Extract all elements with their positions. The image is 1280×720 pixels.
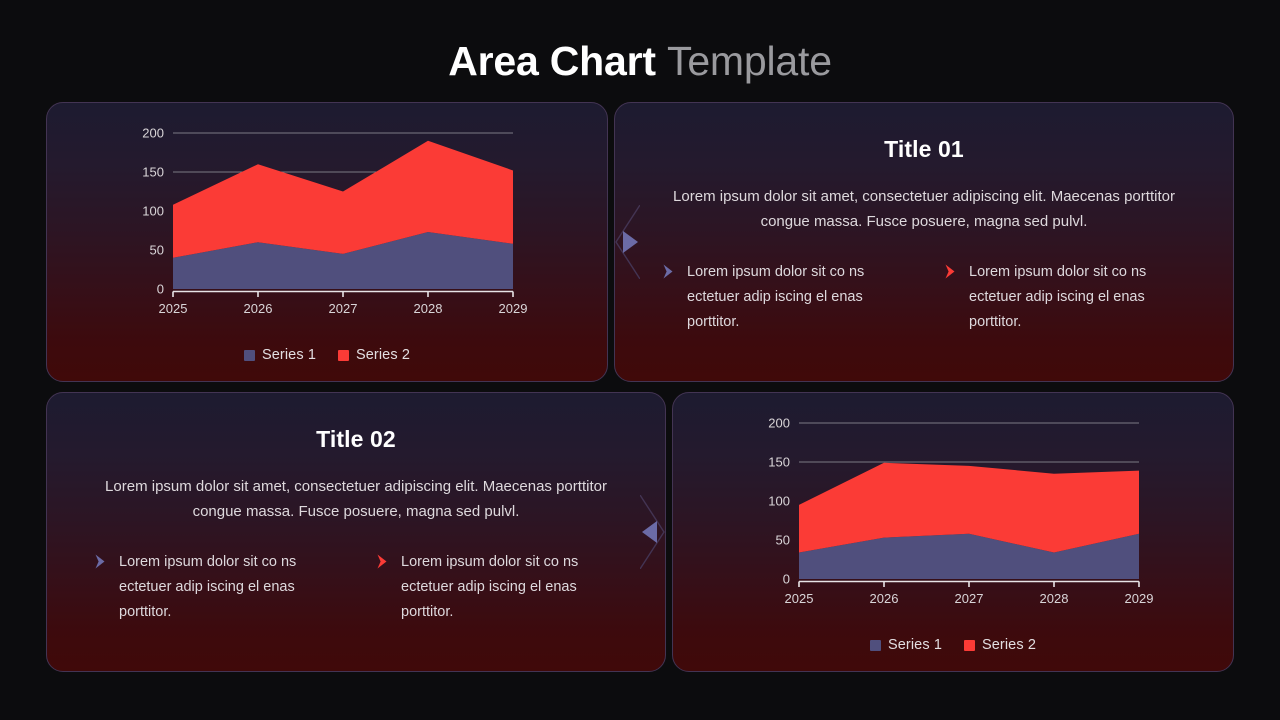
legend-label-series-1: Series 1 xyxy=(262,347,316,363)
list-item[interactable]: Lorem ipsum dolor sit co ns ectetuer adi… xyxy=(376,550,618,625)
legend-item-series-2[interactable]: Series 2 xyxy=(338,347,410,363)
list-item-label: Lorem ipsum dolor sit co ns ectetuer adi… xyxy=(119,550,336,625)
svg-text:150: 150 xyxy=(768,455,790,470)
svg-text:0: 0 xyxy=(157,282,164,297)
svg-text:150: 150 xyxy=(142,165,164,180)
svg-text:50: 50 xyxy=(776,533,790,548)
chevron-right-icon xyxy=(376,553,389,570)
area-chart-top-left: 05010015020020252026202720282029 xyxy=(127,123,527,323)
text-card-title-02: Title 02 Lorem ipsum dolor sit amet, con… xyxy=(46,392,666,672)
legend-label-series-1: Series 1 xyxy=(888,637,942,653)
svg-text:2028: 2028 xyxy=(414,301,443,316)
svg-text:2025: 2025 xyxy=(159,301,188,316)
panel-title: Title 01 xyxy=(884,136,964,163)
chart-legend-top-left: Series 1 Series 2 xyxy=(244,347,410,365)
list-item[interactable]: Lorem ipsum dolor sit co ns ectetuer adi… xyxy=(94,550,336,625)
panel-title: Title 02 xyxy=(316,426,396,453)
slide-canvas: Area Chart Template 05010015020020252026… xyxy=(0,0,1280,720)
svg-text:2026: 2026 xyxy=(244,301,273,316)
legend-item-series-1[interactable]: Series 1 xyxy=(244,347,316,363)
chart-card-bottom-right: 05010015020020252026202720282029 Series … xyxy=(672,392,1234,672)
chart-canvas-wrap-1: 05010015020020252026202720282029 xyxy=(699,413,1207,631)
svg-text:2029: 2029 xyxy=(499,301,527,316)
chart-card-top-left: 05010015020020252026202720282029 Series … xyxy=(46,102,608,382)
text-card-title-01: Title 01 Lorem ipsum dolor sit amet, con… xyxy=(614,102,1234,382)
list-item[interactable]: Lorem ipsum dolor sit co ns ectetuer adi… xyxy=(662,260,904,335)
chevron-right-icon xyxy=(94,553,107,570)
panel-body-text: Lorem ipsum dolor sit amet, consectetuer… xyxy=(101,474,611,524)
svg-text:100: 100 xyxy=(142,204,164,219)
svg-text:2025: 2025 xyxy=(785,591,814,606)
svg-text:2027: 2027 xyxy=(329,301,358,316)
legend-swatch-series-1 xyxy=(870,640,881,651)
svg-text:200: 200 xyxy=(768,416,790,431)
page-title-light: Template xyxy=(667,38,832,84)
svg-text:200: 200 xyxy=(142,126,164,141)
svg-text:100: 100 xyxy=(768,494,790,509)
svg-text:2026: 2026 xyxy=(870,591,899,606)
legend-swatch-series-1 xyxy=(244,350,255,361)
panel-bullet-list: Lorem ipsum dolor sit co ns ectetuer adi… xyxy=(655,260,1193,335)
panel-bullet-list: Lorem ipsum dolor sit co ns ectetuer adi… xyxy=(87,550,625,625)
chart-panel-top-left: 05010015020020252026202720282029 Series … xyxy=(47,103,607,381)
chevron-right-icon xyxy=(944,263,957,280)
svg-text:2027: 2027 xyxy=(955,591,984,606)
chart-legend-bottom-right: Series 1 Series 2 xyxy=(870,637,1036,655)
svg-text:2028: 2028 xyxy=(1040,591,1069,606)
panel-content-title-01: Title 01 Lorem ipsum dolor sit amet, con… xyxy=(615,103,1233,381)
chart-canvas-wrap-0: 05010015020020252026202720282029 xyxy=(73,123,581,341)
legend-swatch-series-2 xyxy=(338,350,349,361)
panel-content-title-02: Title 02 Lorem ipsum dolor sit amet, con… xyxy=(47,393,665,671)
page-title-strong: Area Chart xyxy=(448,38,656,84)
svg-text:0: 0 xyxy=(783,572,790,587)
legend-label-series-2: Series 2 xyxy=(356,347,410,363)
chart-panel-bottom-right: 05010015020020252026202720282029 Series … xyxy=(673,393,1233,671)
legend-label-series-2: Series 2 xyxy=(982,637,1036,653)
legend-item-series-2[interactable]: Series 2 xyxy=(964,637,1036,653)
area-chart-bottom-right: 05010015020020252026202720282029 xyxy=(753,413,1153,613)
page-title: Area Chart Template xyxy=(0,36,1280,86)
svg-text:2029: 2029 xyxy=(1125,591,1153,606)
legend-swatch-series-2 xyxy=(964,640,975,651)
legend-item-series-1[interactable]: Series 1 xyxy=(870,637,942,653)
list-item-label: Lorem ipsum dolor sit co ns ectetuer adi… xyxy=(969,260,1186,335)
panel-body-text: Lorem ipsum dolor sit amet, consectetuer… xyxy=(669,184,1179,234)
chevron-right-icon xyxy=(662,263,675,280)
svg-text:50: 50 xyxy=(150,243,164,258)
list-item-label: Lorem ipsum dolor sit co ns ectetuer adi… xyxy=(401,550,618,625)
list-item[interactable]: Lorem ipsum dolor sit co ns ectetuer adi… xyxy=(944,260,1186,335)
list-item-label: Lorem ipsum dolor sit co ns ectetuer adi… xyxy=(687,260,904,335)
